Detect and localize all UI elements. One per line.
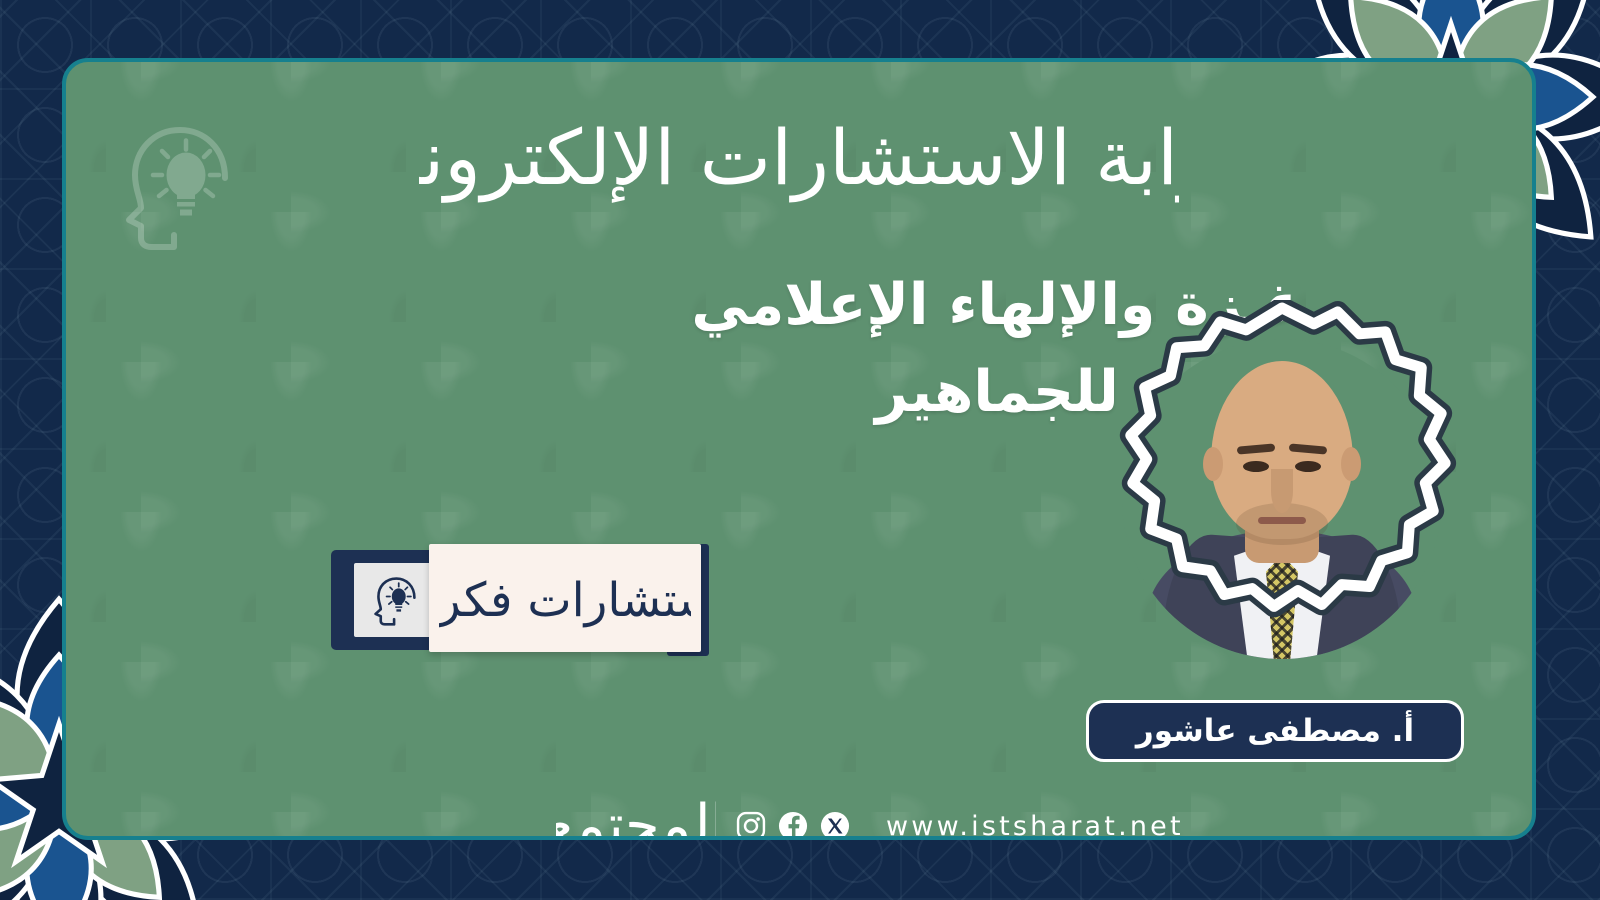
header-calligraphy-art: بوابة الاستشارات الإلكترونية (419, 84, 1179, 234)
speaker-name-badge: أ. مصطفى عاشور (1086, 700, 1464, 762)
speaker-name-text: أ. مصطفى عاشور (1136, 713, 1414, 749)
footer-bar: المجتمع www.istsharat.net (556, 780, 1184, 840)
logo-calligraphy-art: استشارات فكرية (439, 552, 691, 644)
footer-calligraphy-art: المجتمع (556, 780, 716, 840)
facebook-icon[interactable] (778, 811, 808, 840)
head-lightbulb-icon-logo (368, 571, 426, 629)
header-calligraphy: بوابة الاستشارات الإلكترونية (66, 84, 1532, 234)
brand-logo-bar: استشارات فكرية (331, 544, 771, 656)
slide-canvas: بوابة الاستشارات الإلكترونية غـزة والإله… (0, 0, 1600, 900)
logo-calligraphy-plate: استشارات فكرية (429, 544, 701, 652)
green-content-panel: بوابة الاستشارات الإلكترونية غـزة والإله… (62, 58, 1536, 840)
website-url[interactable]: www.istsharat.net (886, 811, 1184, 841)
instagram-icon[interactable] (736, 811, 766, 840)
header-calligraphy-text: بوابة الاستشارات الإلكترونية (419, 113, 1179, 203)
footer-calligraphy-text: المجتمع (556, 793, 716, 840)
logo-calligraphy-text: استشارات فكرية (439, 573, 691, 628)
speaker-portrait (1083, 300, 1481, 698)
x-twitter-icon[interactable] (820, 811, 850, 840)
social-links (736, 811, 850, 840)
portrait-scalloped-frame (1083, 300, 1481, 698)
logo-icon-box (354, 563, 440, 637)
